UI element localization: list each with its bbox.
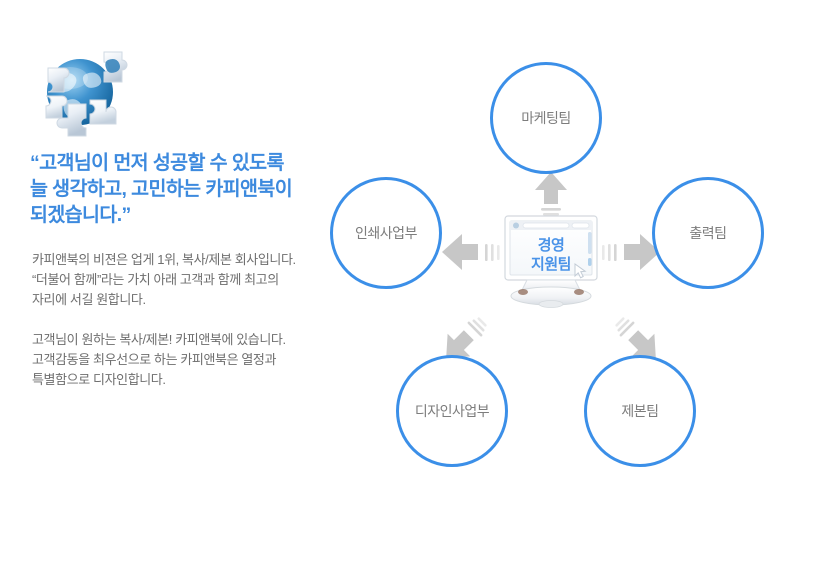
puzzle-globe-logo (28, 38, 148, 138)
node-output[interactable]: 출력팀 (652, 177, 764, 289)
computer-monitor-icon (493, 212, 609, 308)
vision-text-panel: “고객님이 먼저 성공할 수 있도록 늘 생각하고, 고민하는 카피앤북이 되겠… (0, 0, 360, 583)
node-output-label: 출력팀 (689, 225, 726, 242)
node-binding-label: 제본팀 (621, 403, 658, 420)
node-printing[interactable]: 인쇄사업부 (330, 177, 442, 289)
node-design[interactable]: 디자인사업부 (396, 355, 508, 467)
node-marketing-label: 마케팅팀 (521, 110, 571, 127)
arrow-left-icon (442, 232, 500, 272)
vision-paragraph-2: 고객님이 원하는 복사/제본! 카피앤북에 있습니다. 고객감동을 최우선으로 … (32, 330, 352, 390)
node-marketing[interactable]: 마케팅팀 (490, 62, 602, 174)
node-printing-label: 인쇄사업부 (355, 225, 417, 242)
node-binding[interactable]: 제본팀 (584, 355, 696, 467)
page-root: “고객님이 먼저 성공할 수 있도록 늘 생각하고, 고민하는 카피앤북이 되겠… (0, 0, 821, 583)
node-design-label: 디자인사업부 (415, 403, 489, 420)
org-structure-diagram: 경영 지원팀 마케팅팀 출력팀 제본팀 디자인사업부 인쇄사업부 (330, 0, 821, 583)
vision-headline: “고객님이 먼저 성공할 수 있도록 늘 생각하고, 고민하는 카피앤북이 되겠… (30, 150, 350, 228)
vision-paragraph-1: 카피앤북의 비젼은 업게 1위, 복사/제본 회사입니다. “더불어 함께”라는… (32, 250, 352, 310)
